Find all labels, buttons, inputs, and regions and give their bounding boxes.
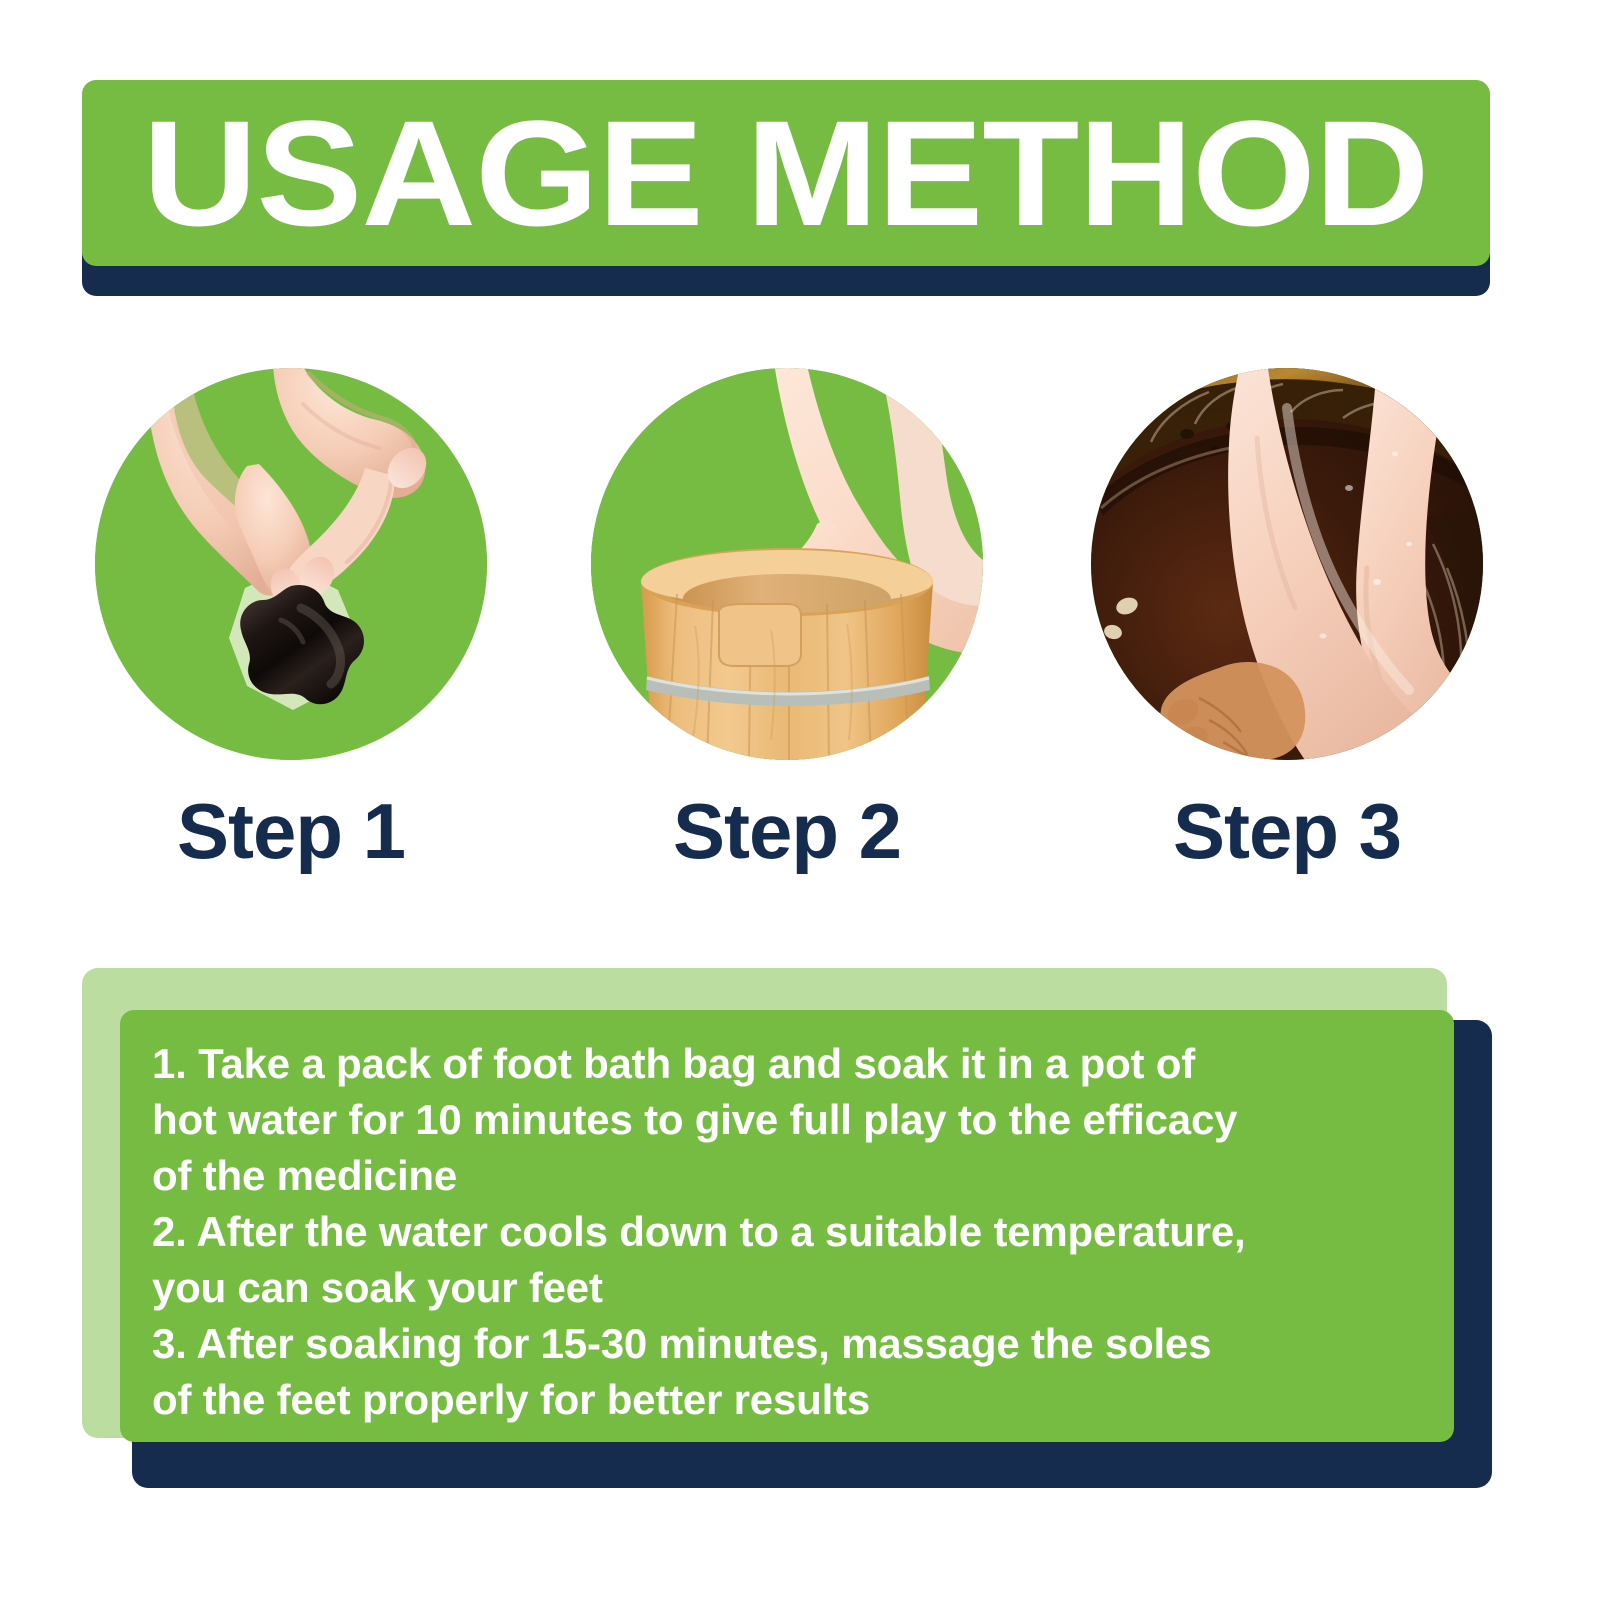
instruction-line: of the medicine [152, 1148, 1424, 1204]
step-1-label: Step 1 [95, 792, 487, 870]
instruction-line: 2. After the water cools down to a suita… [152, 1204, 1424, 1260]
steps-row: Step 1 [95, 368, 1485, 888]
instruction-line: you can soak your feet [152, 1260, 1424, 1316]
step-1-image [95, 368, 487, 760]
step-item-2: Step 2 [591, 368, 983, 870]
step-item-1: Step 1 [95, 368, 487, 870]
header-banner-plate: USAGE METHOD [82, 80, 1490, 266]
instructions-green-card: 1. Take a pack of foot bath bag and soak… [120, 1010, 1454, 1442]
header-banner: USAGE METHOD [82, 80, 1490, 296]
instruction-line: of the feet properly for better results [152, 1372, 1424, 1428]
step-2-label: Step 2 [591, 792, 983, 870]
instructions-panel: 1. Take a pack of foot bath bag and soak… [82, 968, 1492, 1488]
step-3-label: Step 3 [1091, 792, 1483, 870]
feet-in-wooden-tub-illustration [591, 368, 983, 760]
step-2-image [591, 368, 983, 760]
page-title: USAGE METHOD [143, 98, 1429, 248]
step-3-image [1091, 368, 1483, 760]
instruction-line: hot water for 10 minutes to give full pl… [152, 1092, 1424, 1148]
step-item-3: Step 3 [1091, 368, 1483, 870]
hand-holding-sachet-illustration [95, 368, 487, 760]
instruction-line: 3. After soaking for 15-30 minutes, mass… [152, 1316, 1424, 1372]
feet-soaking-in-herbal-water-illustration [1091, 368, 1483, 760]
instruction-line: 1. Take a pack of foot bath bag and soak… [152, 1036, 1424, 1092]
